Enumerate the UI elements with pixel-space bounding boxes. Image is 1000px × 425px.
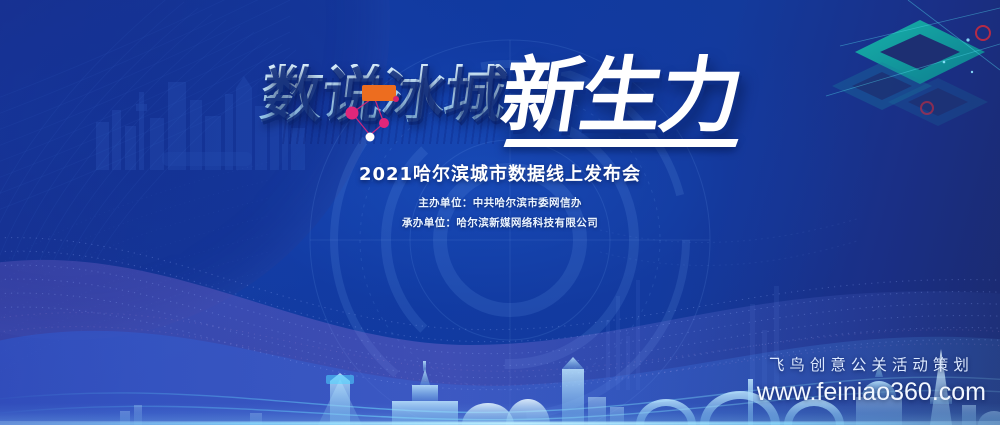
subtitle-block: 2021哈尔滨城市数据线上发布会 主办单位：中共哈尔滨市委网信办 承办单位：哈尔… [0, 160, 1000, 230]
organizer-line: 主办单位：中共哈尔滨市委网信办 [0, 195, 1000, 210]
watermark-url[interactable]: www.feiniao360.com [757, 378, 986, 407]
event-subtitle: 2021哈尔滨城市数据线上发布会 [0, 160, 1000, 186]
title-underline-bar [504, 139, 739, 147]
isometric-diamond-icon [820, 0, 1000, 130]
poster-canvas: 数说冰城 新生力 2021哈尔滨城市数据线上发布会 主办单位：中共哈尔滨市委网信… [0, 0, 1000, 425]
watermark: 飞鸟创意公关活动策划 www.feiniao360.com [757, 353, 986, 407]
watermark-brand: 飞鸟创意公关活动策划 [757, 353, 986, 375]
co-organizer-line: 承办单位：哈尔滨新媒网络科技有限公司 [0, 215, 1000, 230]
city-skyline-silhouette-icon [92, 60, 312, 170]
